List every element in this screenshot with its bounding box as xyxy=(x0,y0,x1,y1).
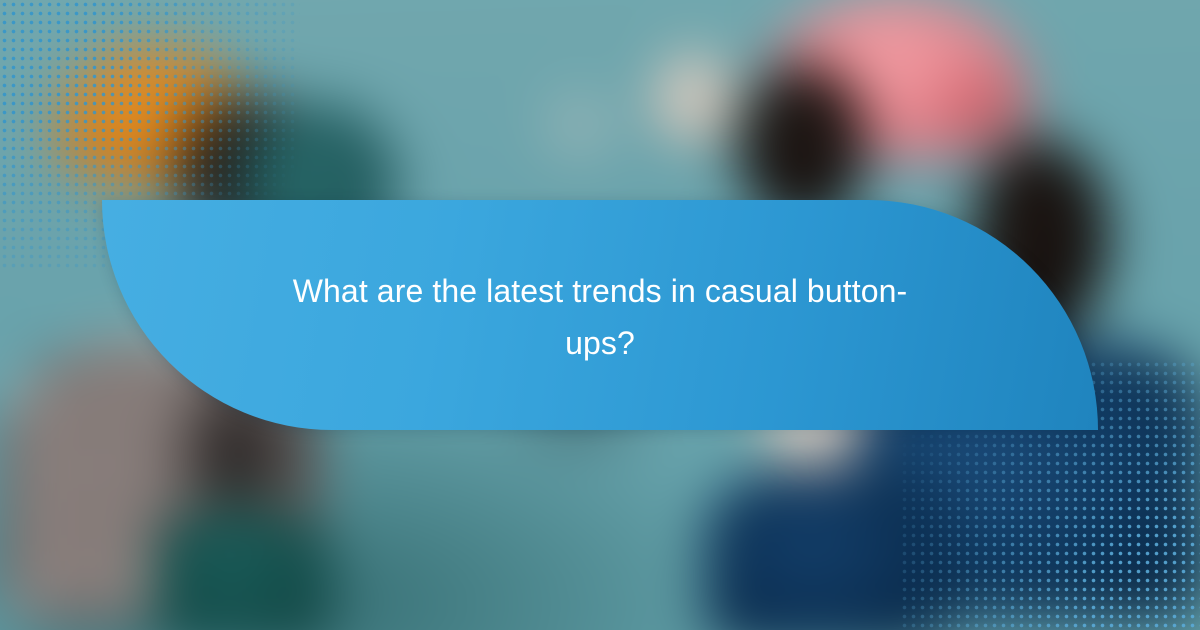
midground-highlight-shape xyxy=(532,87,627,172)
navy-denim-arm-shape xyxy=(706,469,950,630)
question-text: What are the latest trends in casual but… xyxy=(290,265,910,369)
question-banner: What are the latest trends in casual but… xyxy=(102,200,1098,430)
question-banner-canvas: What are the latest trends in casual but… xyxy=(0,0,1200,630)
left-figure-torso-shape xyxy=(151,507,331,630)
left-hand-shape xyxy=(653,53,736,144)
